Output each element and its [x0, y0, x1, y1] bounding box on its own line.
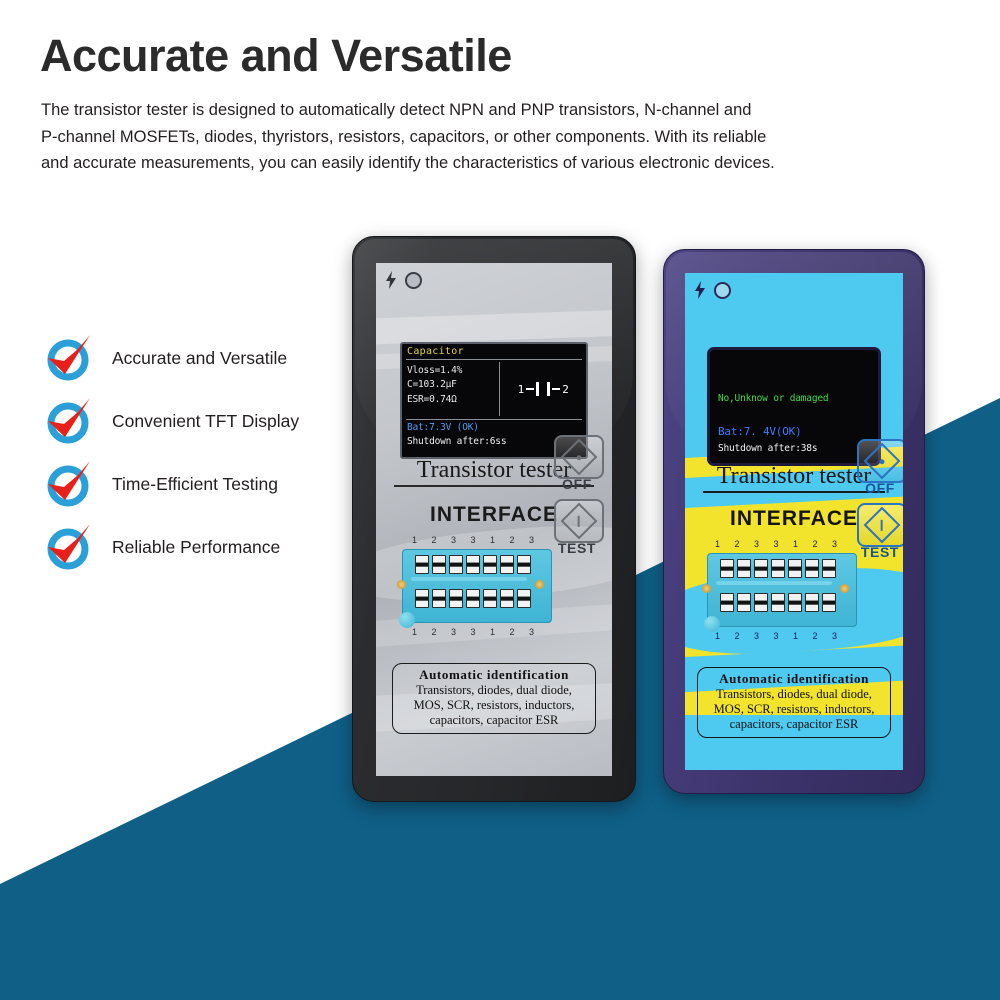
zif-socket[interactable] [707, 553, 857, 627]
automatic-identification-box: Automatic identification Transistors, di… [392, 663, 596, 734]
zif-pins-bottom [403, 584, 551, 608]
device-purple-transistor-tester: No,Unknow or damaged Bat:7. 4V(OK) Shutd… [663, 249, 925, 794]
test-diamond-icon [864, 507, 901, 544]
auto-id-line-1: Transistors, diodes, dual diode, [702, 687, 886, 702]
status-led-icon [714, 282, 731, 299]
lcd-capacitance: C=103.2µF [407, 378, 499, 392]
intro-line-2: P-channel MOSFETs, diodes, thyristors, r… [41, 124, 951, 151]
page-title: Accurate and Versatile [40, 32, 512, 79]
pin-row-top: 1 2 3 3 1 2 3 [715, 539, 843, 549]
zif-screw-icon [702, 584, 711, 593]
auto-id-line-2: MOS, SCR, resistors, inductors, [397, 698, 591, 713]
zif-lever-handle[interactable] [399, 612, 415, 628]
off-button[interactable] [554, 435, 604, 479]
zif-pins-top [708, 554, 856, 578]
lcd-measurements: Vloss=1.4% C=103.2µF ESR=0.74Ω [402, 360, 499, 418]
off-button[interactable] [857, 439, 903, 483]
check-icon [42, 522, 104, 572]
off-button-label: OFF [554, 476, 600, 492]
lcd-battery-status: Bat:7. 4V(OK) [718, 425, 802, 438]
lcd-screen: No,Unknow or damaged Bat:7. 4V(OK) Shutd… [707, 347, 881, 466]
feature-label: Reliable Performance [112, 537, 280, 558]
power-diamond-icon [561, 439, 598, 476]
feature-label: Accurate and Versatile [112, 348, 287, 369]
pin-row-bottom: 1 2 3 3 1 2 3 [715, 631, 843, 641]
list-item: Time-Efficient Testing [42, 456, 299, 512]
auto-id-title: Automatic identification [702, 671, 886, 687]
feature-list: Accurate and Versatile Convenient TFT Di… [42, 330, 299, 582]
pin-label-right: 2 [562, 383, 569, 396]
device-black-transistor-tester: Capacitor Vloss=1.4% C=103.2µF ESR=0.74Ω… [352, 236, 636, 802]
device-faceplate: Capacitor Vloss=1.4% C=103.2µF ESR=0.74Ω… [376, 263, 612, 776]
lightning-bolt-icon [386, 271, 396, 289]
pin-label-left: 1 [518, 383, 525, 396]
zif-screw-icon [840, 584, 849, 593]
test-diamond-icon [561, 503, 598, 540]
zif-screw-icon [535, 580, 544, 589]
auto-id-line-2: MOS, SCR, resistors, inductors, [702, 702, 886, 717]
intro-line-1: The transistor tester is designed to aut… [41, 97, 951, 124]
product-feature-banner: Accurate and Versatile The transistor te… [0, 0, 1000, 1000]
auto-id-title: Automatic identification [397, 667, 591, 683]
list-item: Accurate and Versatile [42, 330, 299, 386]
check-icon [42, 333, 104, 383]
lcd-title: Capacitor [402, 344, 586, 358]
test-button-label: TEST [554, 540, 600, 556]
auto-id-line-3: capacitors, capacitor ESR [702, 717, 886, 732]
auto-id-line-1: Transistors, diodes, dual diode, [397, 683, 591, 698]
feature-label: Time-Efficient Testing [112, 474, 278, 495]
check-icon [42, 459, 104, 509]
off-button-label: OFF [857, 480, 903, 496]
power-diamond-icon [864, 443, 901, 480]
device-faceplate: No,Unknow or damaged Bat:7. 4V(OK) Shutd… [685, 273, 903, 770]
feature-label: Convenient TFT Display [112, 411, 299, 432]
test-button-label: TEST [857, 544, 903, 560]
lcd-shutdown-timer: Shutdown after:38s [718, 443, 817, 454]
lcd-vloss: Vloss=1.4% [407, 364, 499, 378]
lcd-component-symbol: 1 2 [500, 360, 586, 418]
list-item: Reliable Performance [42, 519, 299, 575]
test-button[interactable] [857, 503, 903, 547]
lcd-battery-status: Bat:7.3V (OK) [407, 421, 586, 435]
zif-pins-top [403, 550, 551, 574]
zif-slot [411, 577, 527, 581]
intro-line-3: and accurate measurements, you can easil… [41, 150, 951, 177]
pin-row-bottom: 1 2 3 3 1 2 3 [412, 627, 540, 637]
capacitor-symbol-icon: 1 2 [518, 382, 569, 396]
zif-pins-bottom [708, 588, 856, 612]
status-indicator-row [695, 281, 731, 299]
status-led-icon [405, 272, 422, 289]
zif-screw-icon [397, 580, 406, 589]
check-icon [42, 396, 104, 446]
automatic-identification-box: Automatic identification Transistors, di… [697, 667, 891, 738]
zif-socket[interactable] [402, 549, 552, 623]
lcd-result-message: No,Unknow or damaged [718, 393, 828, 404]
pin-row-top: 1 2 3 3 1 2 3 [412, 535, 540, 545]
status-indicator-row [386, 271, 422, 289]
auto-id-line-3: capacitors, capacitor ESR [397, 713, 591, 728]
list-item: Convenient TFT Display [42, 393, 299, 449]
zif-lever-handle[interactable] [704, 616, 720, 632]
test-button[interactable] [554, 499, 604, 543]
lcd-esr: ESR=0.74Ω [407, 393, 499, 407]
zif-slot [716, 581, 832, 585]
lightning-bolt-icon [695, 281, 705, 299]
intro-paragraph: The transistor tester is designed to aut… [41, 97, 951, 177]
